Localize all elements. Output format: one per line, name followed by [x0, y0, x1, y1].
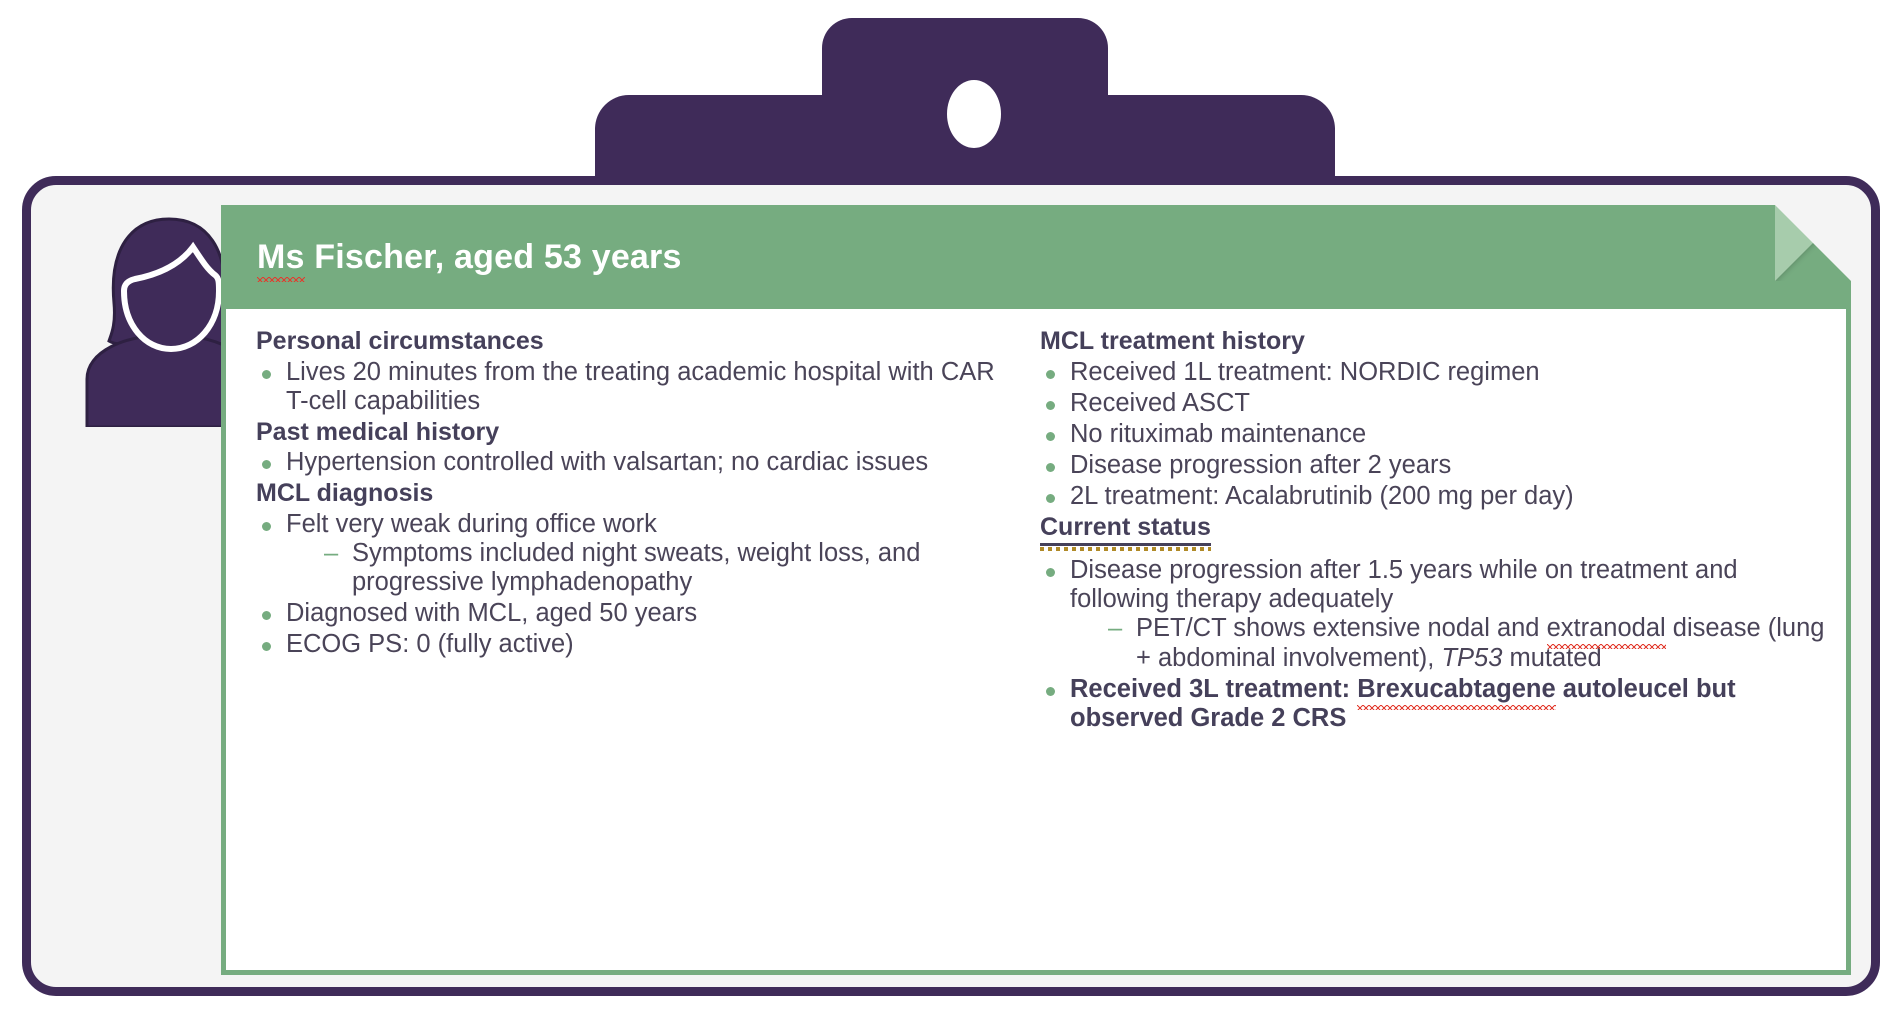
- list-item: Felt very weak during office work Sympto…: [256, 510, 1002, 597]
- left-column: Personal circumstances Lives 20 minutes …: [226, 327, 1016, 970]
- title-rest: Fischer, aged 53 years: [305, 238, 682, 276]
- list-mcl-treatment-history: Received 1L treatment: NORDIC regimen Re…: [1040, 358, 1832, 511]
- right-column: MCL treatment history Received 1L treatm…: [1016, 327, 1846, 970]
- paper-body: Personal circumstances Lives 20 minutes …: [221, 309, 1851, 975]
- item-part1: Received 3L treatment:: [1070, 675, 1357, 703]
- clipboard-board: Ms Fischer, aged 53 years Personal circu…: [22, 176, 1880, 996]
- folded-corner-icon: [1775, 205, 1851, 281]
- title-misspelled-word: Ms: [257, 238, 305, 277]
- page-title: Ms Fischer, aged 53 years: [257, 238, 682, 277]
- clip-hole-icon: [947, 80, 1001, 148]
- section-heading-mcl-treatment-history: MCL treatment history: [1040, 327, 1832, 357]
- slide-canvas: Ms Fischer, aged 53 years Personal circu…: [0, 0, 1902, 1022]
- clipboard-clip: [595, 10, 1335, 185]
- misspelled-word-brexucabtagene: Brexucabtagene: [1357, 675, 1555, 704]
- section-heading-current-status: Current status: [1040, 513, 1211, 547]
- section-heading-past-medical-history: Past medical history: [256, 418, 1002, 448]
- list-item: Disease progression after 2 years: [1040, 451, 1832, 480]
- list-item: Lives 20 minutes from the treating acade…: [256, 358, 1002, 416]
- list-past-medical-history: Hypertension controlled with valsartan; …: [256, 448, 1002, 477]
- gene-name-tp53: TP53: [1441, 644, 1502, 672]
- list-item: Hypertension controlled with valsartan; …: [256, 448, 1002, 477]
- sub-list-item: PET/CT shows extensive nodal and extrano…: [1106, 614, 1832, 672]
- sub-list: Symptoms included night sweats, weight l…: [286, 539, 1002, 597]
- list-item: No rituximab maintenance: [1040, 420, 1832, 449]
- section-heading-personal-circumstances: Personal circumstances: [256, 327, 1002, 357]
- list-item: Disease progression after 1.5 years whil…: [1040, 556, 1832, 672]
- list-item: Diagnosed with MCL, aged 50 years: [256, 599, 1002, 628]
- case-paper: Ms Fischer, aged 53 years Personal circu…: [221, 205, 1851, 975]
- misspelled-word-extranodal: extranodal: [1547, 614, 1666, 643]
- list-current-status: Disease progression after 1.5 years whil…: [1040, 556, 1832, 732]
- list-item-text: Felt very weak during office work: [286, 510, 657, 538]
- sub-list: PET/CT shows extensive nodal and extrano…: [1070, 614, 1832, 672]
- list-item-text: Disease progression after 1.5 years whil…: [1070, 556, 1738, 613]
- sub-list-item: Symptoms included night sweats, weight l…: [322, 539, 1002, 597]
- list-mcl-diagnosis: Felt very weak during office work Sympto…: [256, 510, 1002, 659]
- list-item: Received 1L treatment: NORDIC regimen: [1040, 358, 1832, 387]
- list-item: Received ASCT: [1040, 389, 1832, 418]
- list-item: ECOG PS: 0 (fully active): [256, 630, 1002, 659]
- sub-item-part1: PET/CT shows extensive nodal and: [1136, 614, 1547, 642]
- list-personal-circumstances: Lives 20 minutes from the treating acade…: [256, 358, 1002, 416]
- section-heading-mcl-diagnosis: MCL diagnosis: [256, 479, 1002, 509]
- list-item-3l-treatment: Received 3L treatment: Brexucabtagene au…: [1040, 675, 1832, 733]
- paper-header: Ms Fischer, aged 53 years: [221, 205, 1851, 309]
- list-item: 2L treatment: Acalabrutinib (200 mg per …: [1040, 482, 1832, 511]
